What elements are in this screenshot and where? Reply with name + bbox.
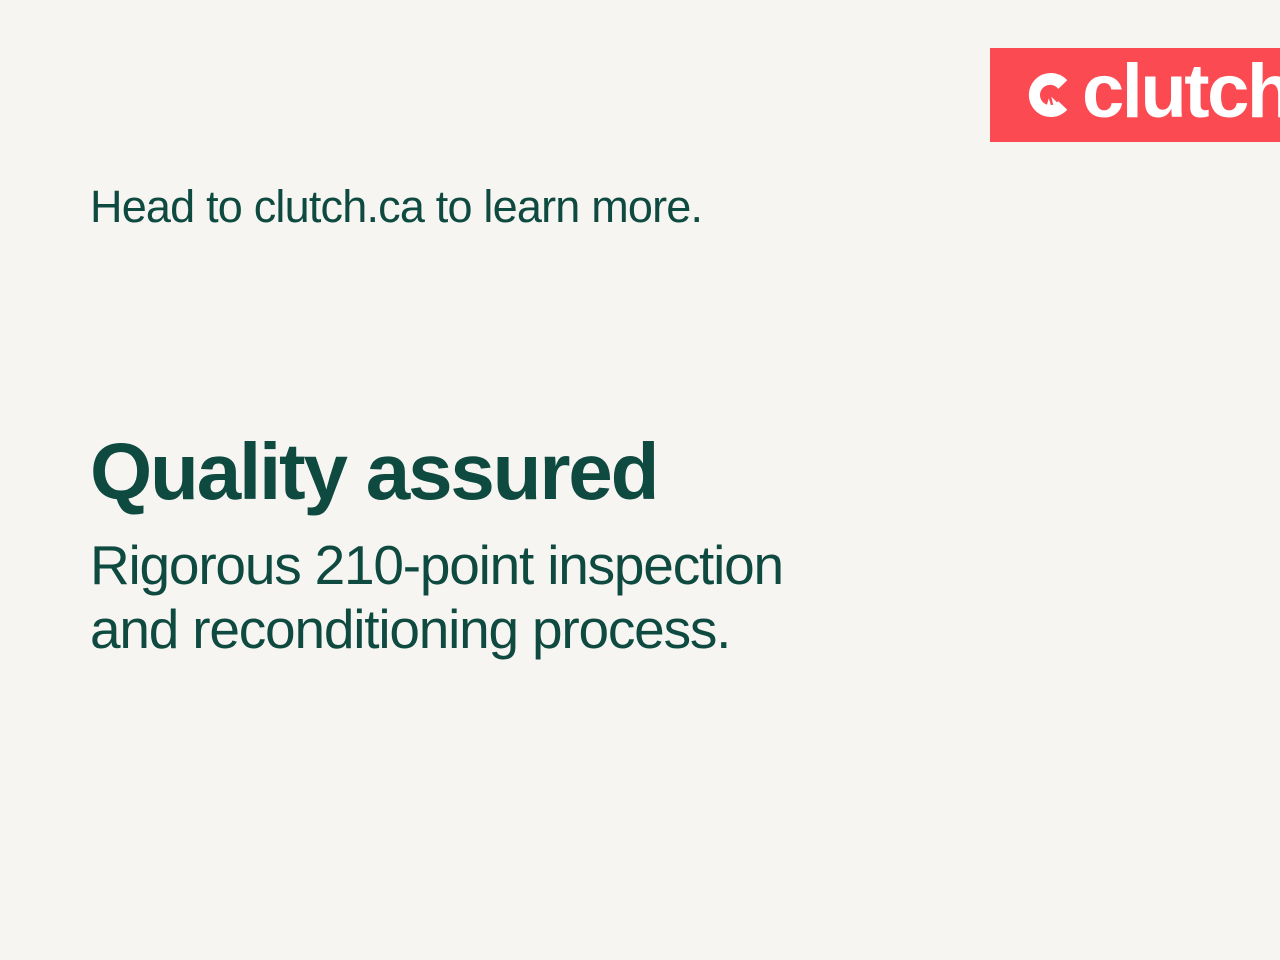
clutch-logo: clutch: [1022, 66, 1280, 124]
clutch-wordmark: clutch: [1082, 63, 1280, 121]
headline-group: Quality assured Rigorous 210-point inspe…: [90, 432, 1050, 662]
slide-canvas: clutch Head to clutch.ca to learn more. …: [0, 0, 1280, 960]
subheadline: Rigorous 210-point inspection and recond…: [90, 534, 990, 662]
page-title: Quality assured: [90, 432, 1050, 512]
subheadline-line-2: and reconditioning process.: [90, 598, 990, 662]
kicker-text: Head to clutch.ca to learn more.: [90, 180, 702, 233]
clutch-logo-badge[interactable]: clutch: [990, 48, 1280, 142]
clutch-c-mark-icon: [1022, 66, 1080, 124]
subheadline-line-1: Rigorous 210-point inspection: [90, 534, 990, 598]
